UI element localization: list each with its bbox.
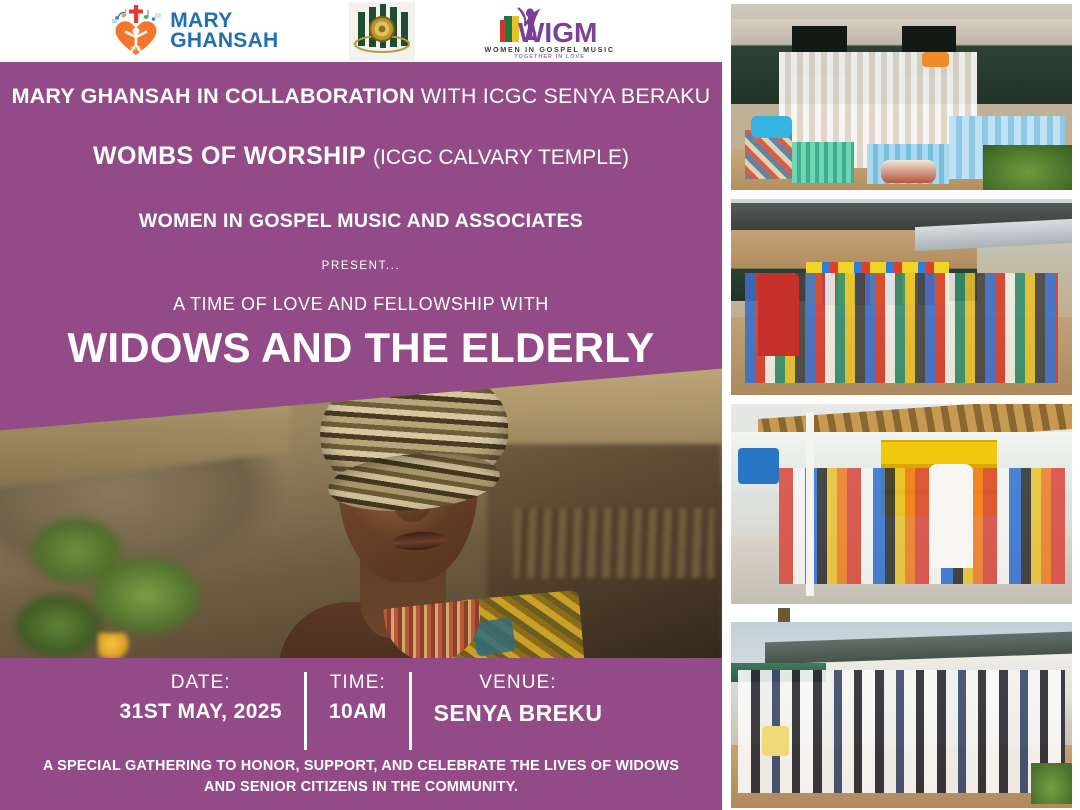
p3-people-group [779, 468, 1065, 584]
detail-date: DATE: 31ST MAY, 2025 [98, 672, 304, 750]
subtitle-line: A TIME OF LOVE AND FELLOWSHIP WITH [0, 294, 722, 315]
collaboration-rest: WITH ICGC SENYA BERAKU [421, 84, 711, 108]
wigm-logo: WIGM WOMEN IN GOSPEL MUSIC TOGETHER IN L… [485, 2, 615, 60]
photo-group-outreach [731, 622, 1072, 808]
event-details-bar: DATE: 31ST MAY, 2025 TIME: 10AM VENUE: S… [0, 658, 722, 810]
detail-time-value: 10AM [329, 700, 387, 724]
detail-date-value: 31ST MAY, 2025 [120, 700, 282, 724]
logo-strip: MG MARY GHANSAH [0, 0, 725, 62]
detail-venue: VENUE: SENYA BREKU [412, 672, 625, 750]
event-details-row: DATE: 31ST MAY, 2025 TIME: 10AM VENUE: S… [0, 672, 722, 750]
photo-column [731, 0, 1074, 810]
photo-donation-supplies-scene [731, 4, 1072, 190]
tagline-line-1: A SPECIAL GATHERING TO HONOR, SUPPORT, A… [0, 756, 722, 777]
wigm-subtagline: TOGETHER IN LOVE [514, 54, 585, 60]
detail-venue-value: SENYA BREKU [434, 700, 603, 727]
p1-bush [983, 145, 1072, 190]
heart-with-person-icon: MG [113, 18, 159, 56]
present-line: PRESENT... [0, 260, 722, 272]
detail-time-label: TIME: [329, 672, 387, 694]
p1-blue-bag [751, 116, 792, 138]
wigm-mark-icon: WIGM [492, 2, 608, 44]
detail-time: TIME: 10AM [307, 672, 409, 750]
photo-group-outreach-scene [731, 622, 1072, 808]
associates-line: WOMEN IN GOSPEL MUSIC AND ASSOCIATES [0, 210, 722, 233]
p4-yellow-handbag [762, 726, 789, 756]
p3-woman-white-top [929, 464, 973, 568]
p4-bush [1031, 763, 1072, 804]
photo-veranda-cartons [731, 404, 1072, 604]
collaboration-bold: MARY GHANSAH IN COLLABORATION [12, 84, 415, 108]
p3-water-tank [738, 448, 779, 484]
detail-date-label: DATE: [120, 672, 282, 694]
tagline-line-2: AND SENIOR CITIZENS IN THE COMMUNITY. [0, 777, 722, 798]
p2-woman-red-shirt [758, 273, 799, 355]
mary-ghansah-logo: MG MARY GHANSAH [110, 5, 278, 57]
svg-text:MG: MG [131, 46, 142, 53]
svg-text:WIGM: WIGM [518, 17, 597, 44]
detail-venue-label: VENUE: [434, 672, 603, 694]
photo-children-with-boxes [731, 199, 1072, 395]
mary-ghansah-wordmark: MARY GHANSAH [170, 11, 278, 51]
wombs-bold: WOMBS OF WORSHIP [93, 142, 366, 170]
p1-rice-sack [881, 160, 936, 182]
photo-veranda-cartons-scene [731, 404, 1072, 604]
collaboration-line: MARY GHANSAH IN COLLABORATION WITH ICGC … [0, 84, 722, 109]
mary-ghansah-mark-icon: MG [110, 5, 164, 57]
wigm-wordmark-icon: WIGM [492, 2, 608, 44]
yellow-flower [98, 633, 132, 659]
tagline-block: A SPECIAL GATHERING TO HONOR, SUPPORT, A… [0, 756, 722, 798]
wigm-tagline: WOMEN IN GOSPEL MUSIC [485, 45, 615, 54]
poster-root: MG MARY GHANSAH [0, 0, 1080, 810]
crest-icon [349, 2, 415, 60]
woman-figure [268, 368, 568, 660]
mary-ghansah-line2: GHANSAH [170, 31, 278, 51]
photo-children-with-boxes-scene [731, 199, 1072, 395]
photo-donation-supplies [731, 4, 1072, 190]
mary-ghansah-line1: MARY [170, 11, 278, 31]
wombs-rest: (ICGC CALVARY TEMPLE) [373, 146, 629, 169]
icgc-crest-logo [349, 2, 415, 60]
p1-bottles [792, 142, 853, 183]
p1-orange-packet [922, 52, 949, 67]
wombs-line: WOMBS OF WORSHIP (ICGC CALVARY TEMPLE) [0, 142, 722, 171]
main-title: WIDOWS AND THE ELDERLY [0, 324, 722, 372]
p3-support-pole [806, 412, 814, 596]
